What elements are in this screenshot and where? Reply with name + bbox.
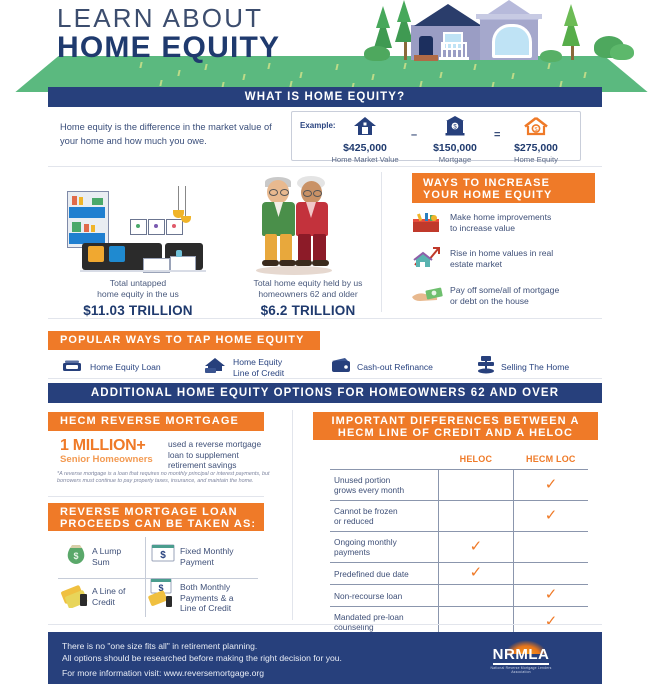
proceeds-item-4-line3: Line of Credit	[180, 603, 234, 614]
cell-hecm	[514, 532, 588, 563]
popular-item-3: Cash-out Refinance	[357, 362, 433, 373]
comparison-banner-line1: IMPORTANT DIFFERENCES BETWEEN A	[313, 415, 598, 427]
bush-icon	[364, 46, 390, 61]
example-column-mortgage: $ $150,000 Mortgage	[412, 116, 498, 164]
check-icon: ✓	[470, 564, 483, 581]
divider	[48, 624, 602, 625]
nrmla-logo: NRMLA National Reverse Mortgage Lenders …	[482, 646, 560, 674]
table-row: Ongoing monthly payments ✓	[330, 532, 588, 563]
stat-caption-line1: Total untapped	[73, 278, 203, 289]
table-row: Non-recourse loan ✓	[330, 585, 588, 607]
comparison-banner: IMPORTANT DIFFERENCES BETWEEN A HECM LIN…	[313, 412, 598, 440]
hand-cash-icon	[412, 284, 444, 304]
popular-item-1-line1: Home Equity Loan	[90, 362, 161, 373]
proceeds-item-4-line2: Payments & a	[180, 593, 234, 604]
check-icon: ✓	[545, 476, 558, 493]
popular-item-4-line1: Selling The Home	[501, 362, 569, 373]
example-caption: Home Market Value	[322, 155, 408, 164]
footer-url[interactable]: For more information visit: www.reversem…	[62, 668, 264, 678]
row-label: Ongoing monthly payments	[330, 532, 438, 563]
ways-item-1-line1: Make home improvements	[450, 212, 580, 223]
row-label: Cannot be frozen or reduced	[330, 501, 438, 532]
proceeds-banner-line2: PROCEEDS CAN BE TAKEN AS:	[60, 518, 264, 530]
credit-card-icon	[60, 582, 92, 608]
cell-hecm	[514, 563, 588, 585]
divider	[48, 378, 602, 379]
table-row: Cannot be frozen or reduced ✓	[330, 501, 588, 532]
divider	[48, 318, 602, 319]
cell-heloc	[438, 470, 514, 501]
comparison-banner-line2: HECM LINE OF CREDIT AND A HELOC	[313, 427, 598, 439]
check-icon: ✓	[470, 538, 483, 555]
check-icon: $	[151, 543, 175, 563]
hecm-stat-big: 1 MILLION+	[60, 437, 153, 454]
hecm-stat: 1 MILLION+ Senior Homeowners	[60, 437, 153, 465]
col-header-hecm: HECM LOC	[514, 450, 588, 470]
hecm-fineprint: *A reverse mortgage is a loan that requi…	[57, 471, 272, 485]
footer-text: There is no "one size fits all" in retir…	[62, 641, 342, 664]
house-card-icon	[204, 357, 226, 374]
bush-icon	[610, 44, 634, 60]
proceeds-item-2: Fixed Monthly Payment	[180, 546, 234, 567]
wallet-icon	[331, 357, 351, 373]
proceeds-item-4-line1: Both Monthly	[180, 582, 234, 593]
bank-icon: $	[445, 116, 465, 136]
ways-banner-line2: YOUR HOME EQUITY	[423, 189, 595, 201]
stat-caption-line2: homeowners 62 and older	[228, 289, 388, 300]
example-amount: $275,000	[493, 142, 579, 154]
stat-value: $6.2 TRILLION	[228, 303, 388, 318]
hecm-stat-text-line2: loan to supplement	[168, 450, 266, 461]
stat-untapped-equity: Total untapped home equity in the us $11…	[73, 278, 203, 318]
cell-heloc	[438, 585, 514, 607]
svg-text:$: $	[73, 551, 78, 561]
hecm-reverse-mortgage-banner: HECM REVERSE MORTGAGE	[48, 412, 264, 431]
ways-item-3-line2: or debt on the house	[450, 296, 580, 307]
divider	[48, 496, 264, 497]
ways-item-1-line2: to increase value	[450, 223, 580, 234]
example-caption: Mortgage	[412, 155, 498, 164]
title-line-1: LEARN ABOUT	[57, 4, 280, 32]
proceeds-item-2-line2: Payment	[180, 557, 234, 568]
ways-item-3: Pay off some/all of mortgage or debt on …	[450, 285, 580, 307]
stat-caption-line1: Total home equity held by us	[228, 278, 388, 289]
additional-options-banner: ADDITIONAL HOME EQUITY OPTIONS FOR HOMEO…	[48, 383, 602, 403]
example-column-home-equity: $ $275,000 Home Equity	[493, 116, 579, 164]
example-amount: $150,000	[412, 142, 498, 154]
comparison-table-wrapper: HELOC HECM LOC Unused portion grows ever…	[330, 450, 588, 637]
check-icon: ✓	[545, 507, 558, 524]
row-label: Non-recourse loan	[330, 585, 438, 607]
row-label: Unused portion grows every month	[330, 470, 438, 501]
cell-hecm: ✓	[514, 585, 588, 607]
hecm-stat-text-line1: used a reverse mortgage	[168, 439, 266, 450]
example-amount: $425,000	[322, 142, 408, 154]
cell-heloc: ✓	[438, 563, 514, 585]
for-sale-sign-icon	[477, 355, 495, 374]
title-line-2: HOME EQUITY	[57, 32, 280, 64]
stat-caption-line2: home equity in the us	[73, 289, 203, 300]
page-title: LEARN ABOUT HOME EQUITY	[57, 4, 280, 64]
proceeds-item-1-line1: A Lump	[92, 546, 121, 557]
proceeds-item-1-line2: Sum	[92, 557, 121, 568]
divider	[381, 172, 382, 312]
col-header-heloc: HELOC	[438, 450, 514, 470]
nrmla-logo-text: NRMLA	[493, 646, 550, 665]
divider	[48, 166, 602, 167]
ways-banner-line1: WAYS TO INCREASE	[423, 177, 595, 189]
ways-to-increase-banner: WAYS TO INCREASE YOUR HOME EQUITY	[412, 173, 595, 203]
table-row: Unused portion grows every month ✓	[330, 470, 588, 501]
popular-item-3-line1: Cash-out Refinance	[357, 362, 433, 373]
house-chart-up-icon	[412, 246, 442, 268]
cash-stack-icon	[62, 359, 82, 372]
table-header-row: HELOC HECM LOC	[330, 450, 588, 470]
ways-item-1: Make home improvements to increase value	[450, 212, 580, 234]
proceeds-item-3-line2: Credit	[92, 597, 125, 608]
check-icon: ✓	[545, 613, 558, 630]
footer-line-1: There is no "one size fits all" in retir…	[62, 641, 342, 653]
tree-icon	[397, 0, 411, 22]
stat-value: $11.03 TRILLION	[73, 303, 203, 318]
comparison-table: HELOC HECM LOC Unused portion grows ever…	[330, 450, 588, 637]
hecm-stat-text: used a reverse mortgage loan to suppleme…	[168, 439, 266, 471]
ways-item-2-line1: Rise in home values in real	[450, 248, 580, 259]
proceeds-banner-line1: REVERSE MORTGAGE LOAN	[60, 506, 264, 518]
bush-icon	[540, 50, 562, 62]
hecm-stat-text-line3: retirement savings	[168, 460, 266, 471]
ways-item-2: Rise in home values in real estate marke…	[450, 248, 580, 270]
example-caption: Home Equity	[493, 155, 579, 164]
popular-item-2-line1: Home Equity	[233, 357, 284, 368]
check-icon: ✓	[545, 586, 558, 603]
proceeds-item-1: A Lump Sum	[92, 546, 121, 567]
cell-hecm: ✓	[514, 501, 588, 532]
proceeds-item-3: A Line of Credit	[92, 586, 125, 607]
proceeds-item-2-line1: Fixed Monthly	[180, 546, 234, 557]
tree-icon	[376, 6, 390, 28]
popular-item-4: Selling The Home	[501, 362, 569, 373]
hero-illustration: LEARN ABOUT HOME EQUITY	[0, 0, 650, 92]
nrmla-logo-subtitle: National Reverse Mortgage Lenders Associ…	[482, 666, 560, 674]
proceeds-banner: REVERSE MORTGAGE LOAN PROCEEDS CAN BE TA…	[48, 503, 264, 531]
popular-ways-banner: POPULAR WAYS TO TAP HOME EQUITY	[48, 331, 320, 350]
row-label: Predefined due date	[330, 563, 438, 585]
tree-trunk	[404, 42, 407, 60]
house-equity-icon: $	[523, 116, 549, 136]
popular-item-2: Home Equity Line of Credit	[233, 357, 284, 378]
svg-text:$: $	[160, 550, 166, 561]
what-is-home-equity-banner: WHAT IS HOME EQUITY?	[48, 87, 602, 107]
tree-icon	[564, 4, 578, 26]
infographic-page: LEARN ABOUT HOME EQUITY WHAT IS HOME EQU…	[0, 0, 650, 691]
proceeds-item-3-line1: A Line of	[92, 586, 125, 597]
footer-line-2: All options should be researched before …	[62, 653, 342, 665]
ways-item-2-line2: estate market	[450, 259, 580, 270]
hecm-stat-sub: Senior Homeowners	[60, 454, 153, 465]
table-row: Predefined due date ✓	[330, 563, 588, 585]
stat-senior-equity: Total home equity held by us homeowners …	[228, 278, 388, 318]
example-column-market-value: $425,000 Home Market Value	[322, 116, 408, 164]
cell-heloc	[438, 501, 514, 532]
cell-hecm: ✓	[514, 470, 588, 501]
popular-item-2-line2: Line of Credit	[233, 368, 284, 379]
proceeds-item-4: Both Monthly Payments & a Line of Credit	[180, 582, 234, 614]
house-icon	[353, 116, 377, 136]
divider	[145, 537, 146, 617]
svg-text:$: $	[534, 127, 537, 133]
toolbox-icon	[412, 211, 440, 233]
check-card-icon: $	[148, 578, 180, 608]
popular-item-1: Home Equity Loan	[90, 362, 161, 373]
cell-heloc: ✓	[438, 532, 514, 563]
home-equity-definition: Home equity is the difference in the mar…	[60, 120, 275, 148]
ways-item-3-line1: Pay off some/all of mortgage	[450, 285, 580, 296]
tree-trunk	[571, 44, 574, 60]
col-header-blank	[330, 450, 438, 470]
money-bag-icon: $	[66, 542, 86, 564]
divider	[292, 410, 293, 620]
